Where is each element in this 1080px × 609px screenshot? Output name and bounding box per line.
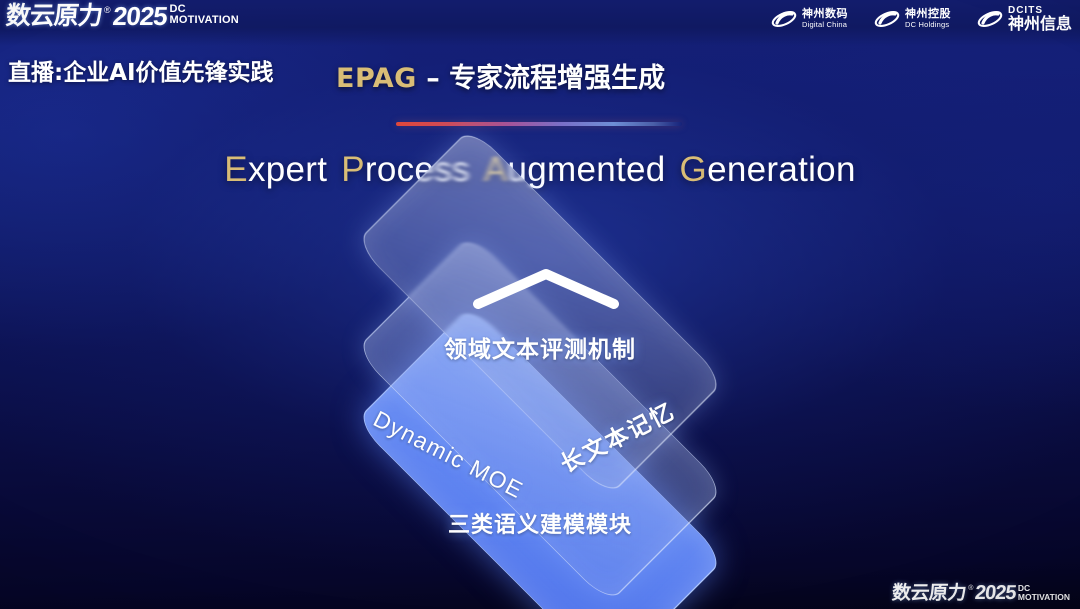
watermark-year: 2025 bbox=[974, 582, 1017, 604]
brand-watermark-bottom-right: 数云原力 ® 2025 DC MOTIVATION bbox=[892, 582, 1070, 604]
chevron-up-icon bbox=[470, 266, 622, 310]
isometric-layer-stack: 领域文本评测机制 Dynamic MOE 长文本记忆 三类语义建模模块 bbox=[0, 0, 1080, 609]
watermark-motivation-label: MOTIVATION bbox=[1018, 592, 1070, 602]
watermark-dc-label: DC bbox=[1018, 584, 1070, 592]
watermark-dc-motivation: DC MOTIVATION bbox=[1018, 582, 1070, 602]
watermark-registered-mark: ® bbox=[968, 582, 973, 593]
watermark-name-cn: 数云原力 bbox=[891, 582, 967, 604]
stack-bottom-layer-label: 三类语义建模模块 bbox=[0, 507, 1080, 539]
slide-canvas: 数云原力 ® 2025 DC MOTIVATION 直播:企业AI价值先锋实践 … bbox=[0, 0, 1080, 609]
stack-top-layer-label: 领域文本评测机制 bbox=[0, 330, 1080, 364]
